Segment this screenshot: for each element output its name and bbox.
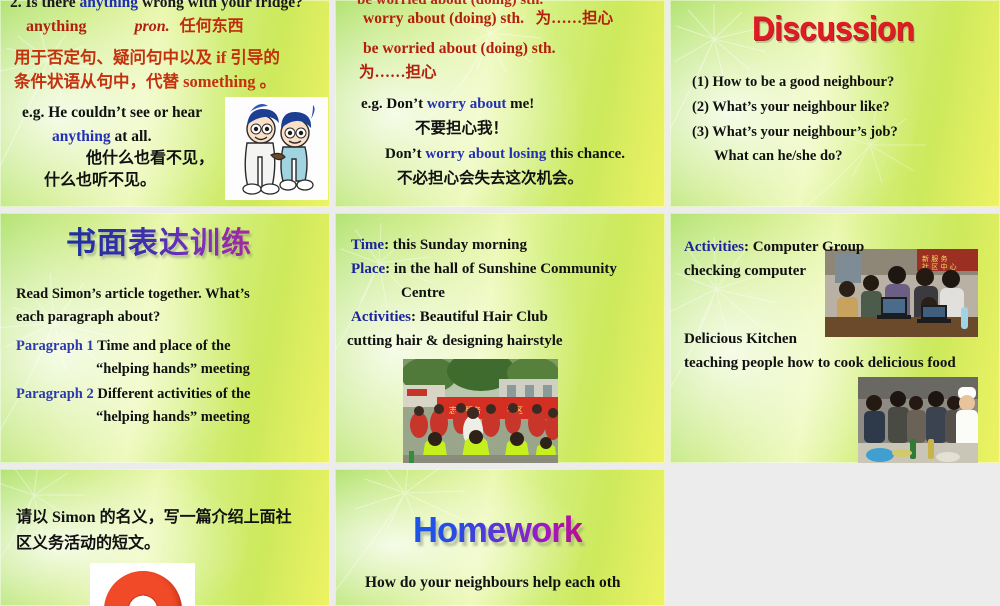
slide-thumbnail-writing-task[interactable]: 请以 Simon 的名义，写一篇介绍上面社 区义务活动的短文。 xyxy=(0,469,330,606)
photo-kitchen-group xyxy=(858,377,978,463)
slide-grid: 2. Is there anything wrong with your fri… xyxy=(0,0,1000,600)
slide2-phrase-1: worry about (doing) sth. 为……担心 xyxy=(363,10,613,28)
activities-detail: cutting hair & designing hairstyle xyxy=(347,333,563,350)
activity-2-detail: teaching people how to cook delicious fo… xyxy=(684,355,956,372)
writing-practice-title: 书面表达训练 xyxy=(66,227,252,262)
writing-prompt-line-1: Read Simon’s article together. What’s xyxy=(16,286,250,303)
slide2-example-2-cn: 不必担心会失去这次机会。 xyxy=(397,170,583,188)
cartoon-two-kids-image xyxy=(225,97,328,200)
paragraph-1-row: Paragraph 1 Time and place of the xyxy=(16,338,231,355)
photo-haircut-volunteers: 志愿服务 社区 xyxy=(403,359,558,463)
discussion-question-3b: What can he/she do? xyxy=(714,148,843,165)
task-line-1: 请以 Simon 的名义，写一篇介绍上面社 xyxy=(16,509,292,528)
photo-computer-group: 新 服 务社 区 中 心 xyxy=(825,249,978,337)
slide1-translation-line-1: 他什么也看不见， xyxy=(86,150,214,169)
activity-1-detail: checking computer xyxy=(684,263,806,280)
discussion-question-1: (1) How to be a good neighbour? xyxy=(692,74,894,91)
homework-title: Homework xyxy=(413,509,582,551)
activities-row: Activities: Computer Group xyxy=(684,239,864,256)
slide2-example-1-cn: 不要担心我！ xyxy=(415,120,508,138)
slide-thumbnail-anything[interactable]: 2. Is there anything wrong with your fri… xyxy=(0,0,330,207)
slide1-example-line-1: e.g. He couldn’t see or hear xyxy=(22,104,202,122)
slide-thumbnail-homework[interactable]: Homework How do your neighbours help eac… xyxy=(335,469,665,606)
slide1-question-line: 2. Is there anything wrong with your fri… xyxy=(10,0,303,12)
paragraph-2-continuation: “helping hands” meeting xyxy=(96,409,250,426)
slide-thumbnail-empty xyxy=(670,469,1000,606)
slide-thumbnail-activities[interactable]: Activities: Computer Group checking comp… xyxy=(670,213,1000,463)
slide2-example-1: e.g. Don’t worry about me! xyxy=(361,96,534,113)
time-row: Time: this Sunday morning xyxy=(351,237,527,254)
slide1-translation-line-2: 什么也听不见。 xyxy=(44,172,156,191)
slide-thumbnail-discussion[interactable]: Discussion (1) How to be a good neighbou… xyxy=(670,0,1000,207)
discussion-title: Discussion xyxy=(752,10,914,49)
svg-text:新 服 务: 新 服 务 xyxy=(922,254,947,263)
slide1-usage-line-1: 用于否定句、疑问句中以及 if 引导的 xyxy=(14,48,280,67)
activities-row: Activities: Beautiful Hair Club xyxy=(351,309,548,326)
slide-thumbnail-worry-about[interactable]: be worried about (doing) sth. worry abou… xyxy=(335,0,665,207)
homework-question: How do your neighbours help each oth xyxy=(365,574,621,592)
slide2-example-2: Don’t worry about losing this chance. xyxy=(385,146,625,163)
slide1-usage-line-2: 条件状语从句中，代替 something 。 xyxy=(14,72,276,91)
slide2-phrase-2: be worried about (doing) sth. xyxy=(363,40,555,58)
paragraph-1-continuation: “helping hands” meeting xyxy=(96,361,250,378)
slide1-example-line-2: anything at all. xyxy=(52,128,152,146)
writing-prompt-line-2: each paragraph about? xyxy=(16,309,160,326)
slide-thumbnail-writing-practice[interactable]: 书面表达训练 Read Simon’s article together. Wh… xyxy=(0,213,330,463)
discussion-question-2: (2) What’s your neighbour like? xyxy=(692,99,890,116)
place-continuation: Centre xyxy=(401,285,445,302)
task-line-2: 区义务活动的短文。 xyxy=(16,535,160,554)
slide2-phrase-2-cn: 为……担心 xyxy=(359,64,437,82)
red-donut-shape xyxy=(104,571,182,606)
paragraph-2-row: Paragraph 2 Different activities of the xyxy=(16,386,251,403)
slide2-cut-top-line: be worried about (doing) sth. xyxy=(357,0,543,9)
discussion-question-3: (3) What’s your neighbour’s job? xyxy=(692,124,898,141)
place-row: Place: in the hall of Sunshine Community xyxy=(351,261,617,278)
activity-2-title: Delicious Kitchen xyxy=(684,331,797,348)
slide-thumbnail-time-place[interactable]: Time: this Sunday morning Place: in the … xyxy=(335,213,665,463)
slide1-word-entry: anythingpron.任何东西 xyxy=(26,18,244,37)
